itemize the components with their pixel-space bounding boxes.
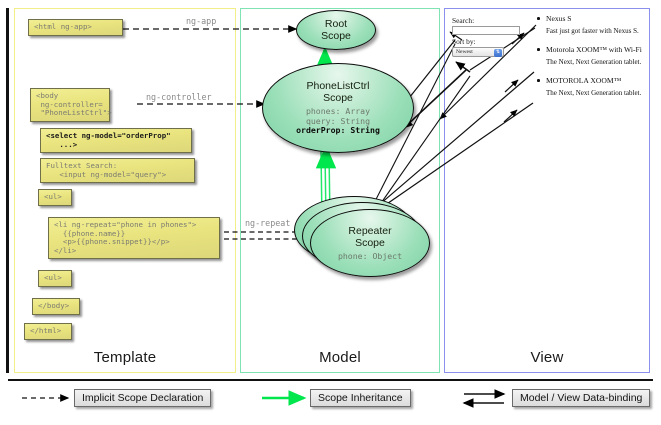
scope-repeater-props: phone: Object: [338, 252, 402, 261]
search-input[interactable]: [452, 26, 520, 35]
code-box-ul-open: <ul>: [38, 189, 72, 206]
chevron-down-icon: ⇅: [494, 49, 502, 57]
phone-name: Nexus S: [546, 14, 648, 23]
ng-app-label: ng-app: [186, 16, 216, 26]
scope-phonelistctrl-props: phones: Array query: String orderProp: S…: [296, 107, 380, 135]
scope-repeater-title: RepeaterScope: [348, 225, 391, 249]
left-frame-edge: [6, 8, 9, 373]
code-box-select-tag: <select ng-model="orderProp" ...>: [40, 128, 192, 153]
phone-name: MOTOROLA XOOM™: [546, 76, 648, 85]
scope-root-title: RootScope: [321, 18, 351, 42]
scope-root: RootScope: [296, 10, 376, 50]
list-item[interactable]: Motorola XOOM™ with Wi-Fi The Next, Next…: [536, 45, 648, 67]
diagram-canvas: Template Model View: [0, 0, 661, 425]
sort-label: Sort by:: [452, 37, 528, 46]
code-box-html-close: </html>: [24, 323, 72, 340]
ng-repeat-label: ng-repeat: [245, 218, 290, 228]
legend-databinding: Model / View Data-binding: [512, 389, 650, 407]
list-item[interactable]: Nexus S Fast just got faster with Nexus …: [536, 14, 648, 36]
code-box-ul-close: <ul>: [38, 270, 72, 287]
phone-snippet: The Next, Next Generation tablet.: [546, 58, 648, 67]
code-box-li-repeat: <li ng-repeat="phone in phones"> {{phone…: [48, 217, 220, 259]
panel-template-label: Template: [15, 349, 235, 366]
sort-select[interactable]: Newest ⇅: [452, 47, 504, 57]
search-label: Search:: [452, 16, 528, 25]
phone-snippet: Fast just got faster with Nexus S.: [546, 27, 648, 36]
code-box-html-tag: <html ng-app>: [28, 19, 123, 36]
legend-inheritance: Scope Inheritance: [310, 389, 411, 407]
scope-phonelistctrl: PhoneListCtrlScope phones: Array query: …: [262, 63, 414, 153]
view-form: Search: Sort by: Newest ⇅: [452, 16, 528, 57]
scope-repeater: RepeaterScope phone: Object: [310, 209, 430, 277]
panel-model-label: Model: [241, 349, 439, 366]
legend-implicit-scope: Implicit Scope Declaration: [74, 389, 211, 407]
legend-divider: [8, 379, 653, 381]
scope-phonelistctrl-title: PhoneListCtrlScope: [306, 80, 369, 104]
sort-select-value: Newest: [456, 49, 473, 55]
phone-name: Motorola XOOM™ with Wi-Fi: [546, 45, 648, 54]
phone-list: Nexus S Fast just got faster with Nexus …: [536, 14, 648, 107]
bullet-icon: [537, 48, 540, 51]
bullet-icon: [537, 17, 540, 20]
list-item[interactable]: MOTOROLA XOOM™ The Next, Next Generation…: [536, 76, 648, 98]
ng-controller-label: ng-controller: [146, 92, 212, 102]
code-box-input-tag: Fulltext Search: <input ng-model="query"…: [40, 158, 195, 183]
phone-snippet: The Next, Next Generation tablet.: [546, 89, 648, 98]
code-box-body-close: </body>: [32, 298, 80, 315]
bullet-icon: [537, 79, 540, 82]
panel-view-label: View: [445, 349, 649, 366]
code-box-body-tag: <body ng-controller= "PhoneListCtrl">: [30, 88, 110, 122]
